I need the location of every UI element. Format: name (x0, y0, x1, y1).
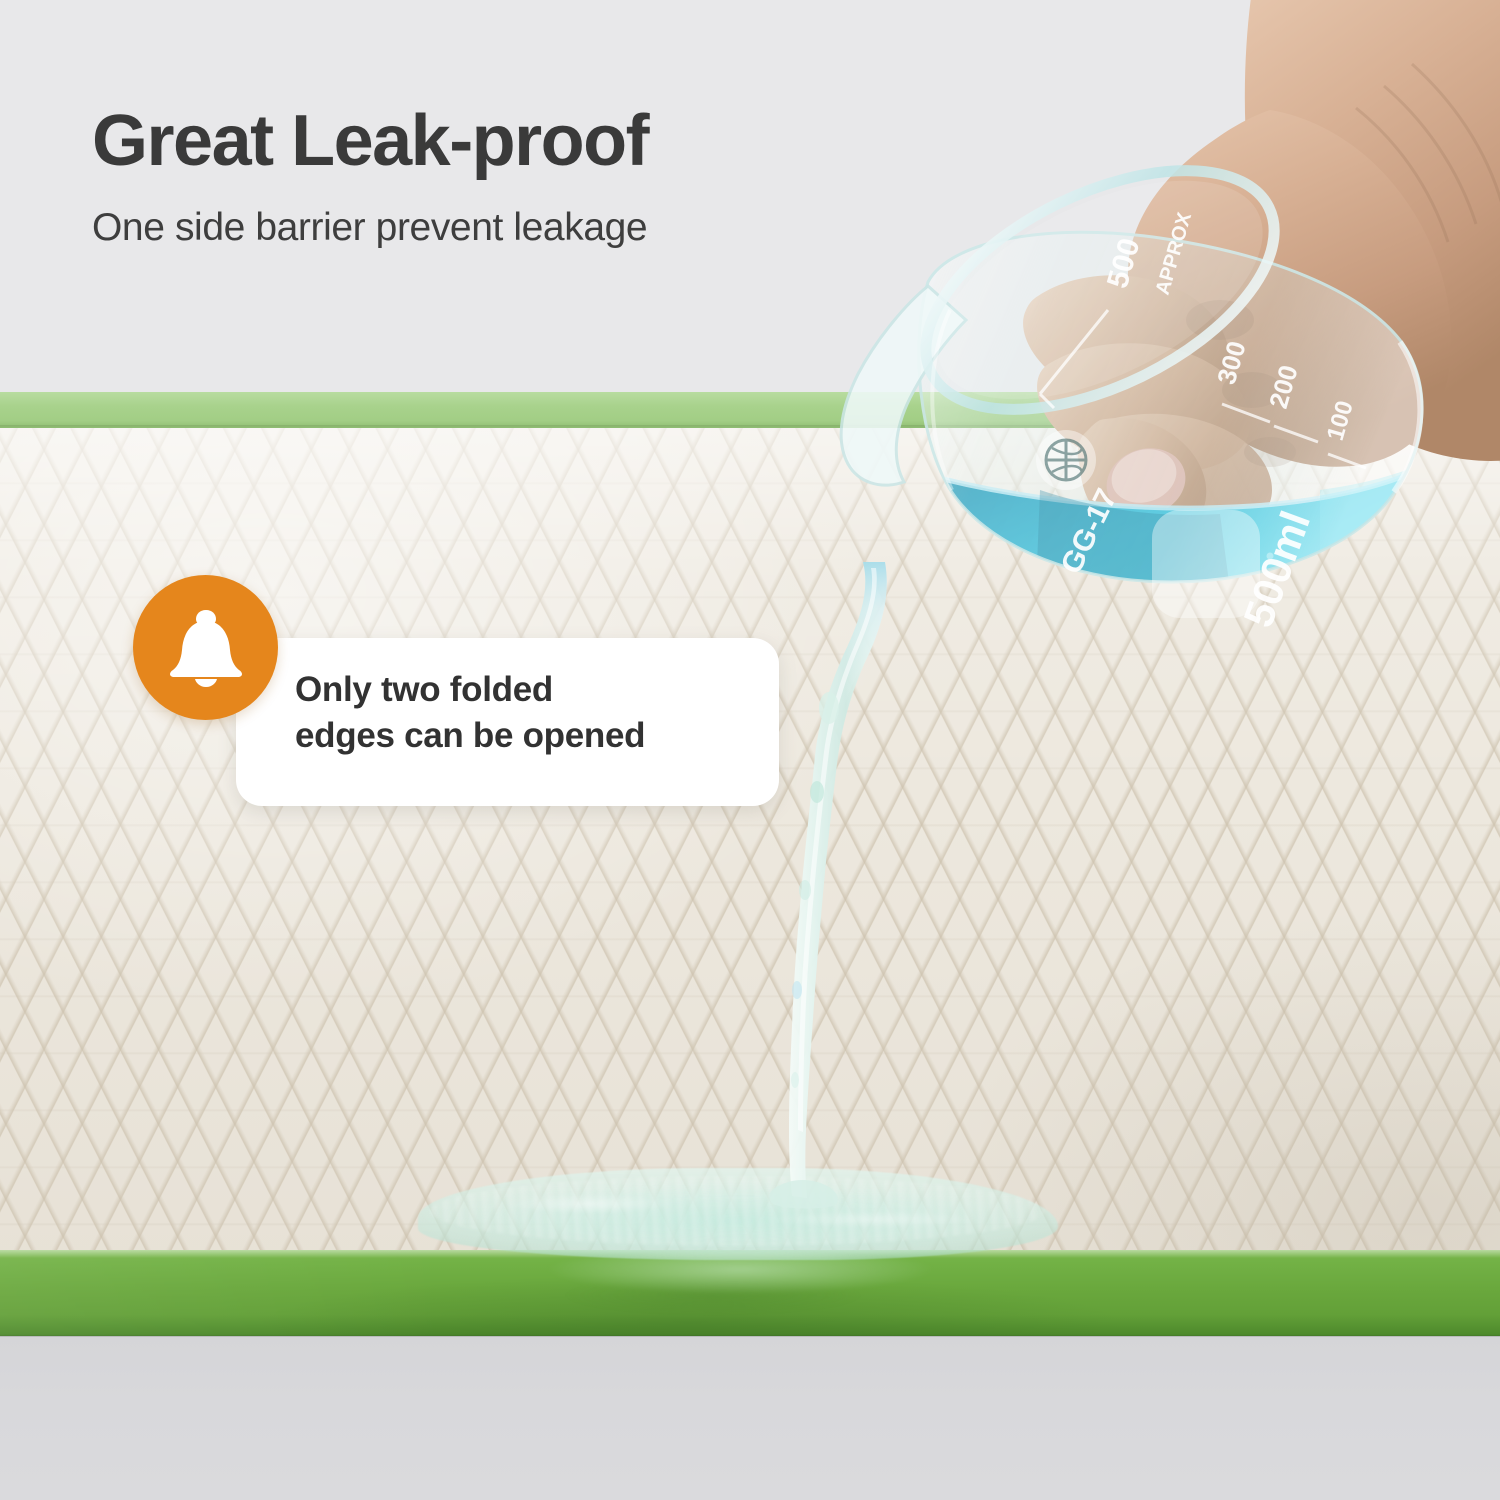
marketing-image: 500 APPROX 300 200 100 GG-17 500ml (0, 0, 1500, 1500)
floor-band (0, 1337, 1500, 1500)
svg-text:500: 500 (1101, 235, 1147, 292)
bell-icon (169, 608, 243, 688)
pet-pad (0, 392, 1500, 1337)
pad-top-edge (0, 392, 1500, 428)
svg-text:APPROX: APPROX (1152, 209, 1197, 297)
pad-quilted-surface (0, 428, 1500, 1252)
page-subtitle: One side barrier prevent leakage (92, 206, 1092, 251)
callout-text: Only two folded edges can be opened (295, 667, 765, 758)
callout-line-2: edges can be opened (295, 713, 765, 759)
callout-line-1: Only two folded (295, 667, 765, 713)
svg-text:300: 300 (1211, 338, 1252, 388)
page-title: Great Leak-proof (92, 104, 1092, 180)
pad-leak-barrier (0, 1250, 1500, 1336)
callout-badge (133, 575, 278, 720)
feature-callout: Only two folded edges can be opened (133, 575, 783, 815)
text-block: Great Leak-proof One side barrier preven… (92, 104, 1092, 250)
